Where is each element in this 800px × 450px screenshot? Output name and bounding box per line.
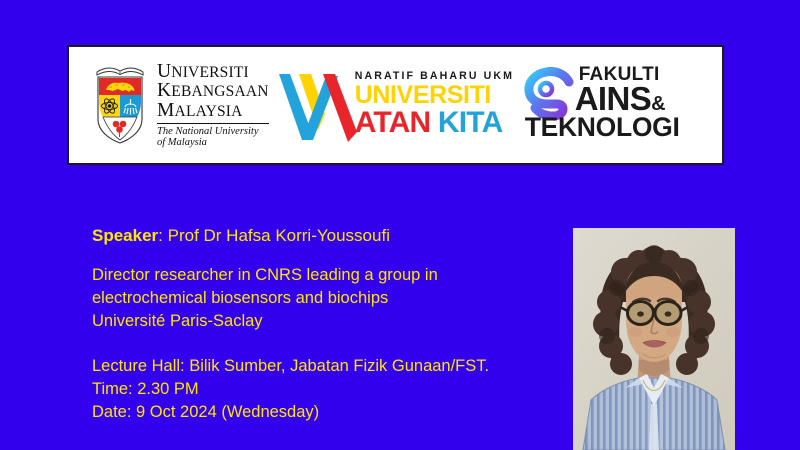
naratif-baharu-ukm-logo: NARATIF BAHARU UKM UNIVERSITI ATAN KITA <box>277 62 509 148</box>
ukm-line-1: UNIVERSITI <box>157 62 269 82</box>
date-line: Date: 9 Oct 2024 (Wednesday) <box>92 401 562 424</box>
bio-line-1: Director researcher in CNRS leading a gr… <box>92 264 562 287</box>
text-spacer <box>92 333 562 355</box>
ukm-shield-crest-icon <box>91 63 149 147</box>
event-details-block: Speaker: Prof Dr Hafsa Korri-Youssoufi D… <box>92 224 562 424</box>
naratif-wordmark: NARATIF BAHARU UKM UNIVERSITI ATAN KITA <box>355 70 514 138</box>
ukm-divider-rule <box>157 123 269 124</box>
speaker-line: Speaker: Prof Dr Hafsa Korri-Youssoufi <box>92 224 562 247</box>
logo-header-band: UNIVERSITI KEBANGSAAN MALAYSIA The Natio… <box>67 45 724 165</box>
speaker-label: Speaker <box>92 226 158 245</box>
ukm-tagline-line-2: of Malaysia <box>157 137 269 148</box>
speaker-portrait-photo <box>573 228 735 450</box>
fst-wordmark: FAKULTI AINS& TEKNOLOGI <box>561 65 680 141</box>
portrait-illustration <box>573 228 735 450</box>
faculty-science-technology-logo: FAKULTI AINS& TEKNOLOGI <box>523 59 713 151</box>
fst-line-teknologi: TEKNOLOGI <box>525 114 680 141</box>
ukm-line-2: KEBANGSAAN <box>157 81 269 101</box>
ukm-tagline-line-1: The National University <box>157 126 269 137</box>
speaker-name: Prof Dr Hafsa Korri-Youssoufi <box>168 226 390 245</box>
ukm-wordmark: UNIVERSITI KEBANGSAAN MALAYSIA The Natio… <box>157 62 269 149</box>
bio-line-3: Université Paris-Saclay <box>92 310 562 333</box>
poster-canvas: UNIVERSITI KEBANGSAAN MALAYSIA The Natio… <box>0 0 800 450</box>
venue-line: Lecture Hall: Bilik Sumber, Jabatan Fizi… <box>92 355 562 378</box>
fst-line-sains: AINS& <box>575 84 680 114</box>
speaker-separator: : <box>158 226 167 245</box>
bio-line-2: electrochemical biosensors and biochips <box>92 287 562 310</box>
ukm-line-3: MALAYSIA <box>157 101 269 121</box>
naratif-watan-kita-words: ATAN KITA <box>355 108 514 138</box>
ukm-university-logo: UNIVERSITI KEBANGSAAN MALAYSIA The Natio… <box>91 62 269 149</box>
time-line: Time: 2.30 PM <box>92 378 562 401</box>
